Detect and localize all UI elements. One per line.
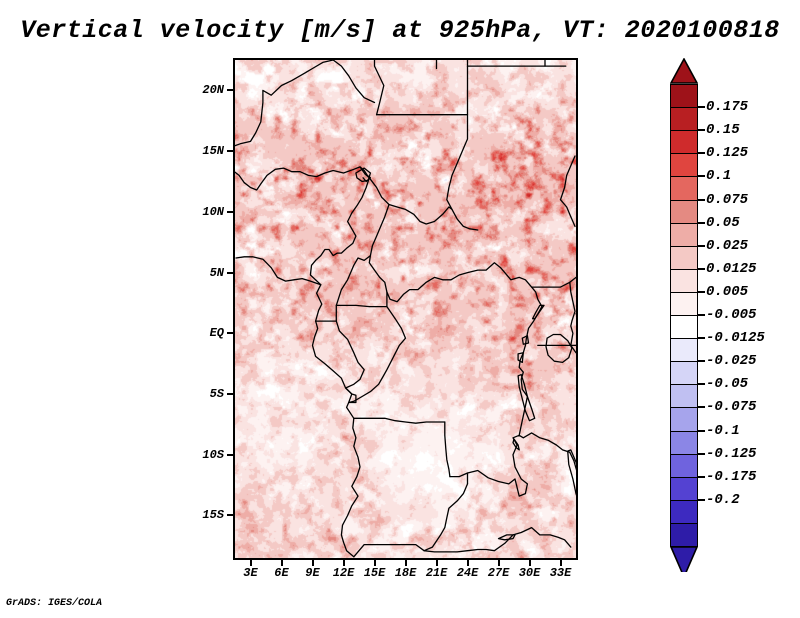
colorbar-label: -0.2 [706, 492, 740, 508]
colorbar-swatch [670, 107, 698, 132]
colorbar-swatch [670, 292, 698, 317]
colorbar-swatch [670, 153, 698, 178]
longitude-tick-label-24e: 24E [457, 566, 479, 580]
map-border-line [354, 418, 445, 423]
colorbar-swatch [670, 269, 698, 294]
longitude-tick-mark [436, 560, 438, 566]
map-border-line [333, 60, 374, 103]
longitude-tick-label-15e: 15E [364, 566, 386, 580]
latitude-tick-mark [227, 393, 233, 395]
map-border-line [336, 292, 387, 307]
latitude-tick-mark [227, 150, 233, 152]
colorbar-swatch [670, 384, 698, 409]
map-border-line [369, 205, 500, 302]
colorbar-tick-mark [698, 360, 705, 362]
grads-plot-page: Vertical velocity [m/s] at 925hPa, VT: 2… [0, 0, 800, 618]
colorbar-tick-mark [698, 314, 705, 316]
map-border-line [501, 268, 542, 436]
colorbar-label: 0.15 [706, 122, 740, 138]
colorbar-tick-mark [698, 245, 705, 247]
map-border-line [561, 156, 576, 200]
colorbar-cap-top [670, 58, 698, 84]
longitude-tick-mark [250, 560, 252, 566]
colorbar-tick-mark [698, 222, 705, 224]
colorbar-tick-mark [698, 129, 705, 131]
page-title: Vertical velocity [m/s] at 925hPa, VT: 2… [0, 16, 800, 45]
colorbar-swatch [670, 361, 698, 386]
colorbar-label: 0.005 [706, 284, 748, 300]
colorbar-label: 0.125 [706, 145, 748, 161]
colorbar-cap-bottom [670, 546, 698, 572]
longitude-tick-mark [343, 560, 345, 566]
colorbar-tick-mark [698, 199, 705, 201]
map-border-line [316, 256, 371, 322]
map-border-line [424, 528, 571, 552]
colorbar-swatch [670, 200, 698, 225]
colorbar-label: -0.125 [706, 446, 756, 462]
colorbar-tick-mark [698, 406, 705, 408]
latitude-tick-label-eq: EQ [178, 326, 224, 340]
longitude-tick-mark [374, 560, 376, 566]
colorbar-swatch [670, 523, 698, 548]
colorbar-label: -0.0125 [706, 330, 765, 346]
map-border-line [447, 60, 478, 230]
colorbar-tick-mark [698, 337, 705, 339]
map-border-line [354, 545, 424, 557]
longitude-tick-label-30e: 30E [519, 566, 541, 580]
map-border-line [468, 433, 570, 496]
colorbar-tick-mark [698, 106, 705, 108]
colorbar-swatch [670, 454, 698, 479]
colorbar-swatch [670, 176, 698, 201]
latitude-tick-label-15n: 15N [178, 144, 224, 158]
longitude-tick-label-3e: 3E [243, 566, 257, 580]
colorbar-tick-mark [698, 383, 705, 385]
colorbar-label: 0.05 [706, 215, 740, 231]
colorbar-label: 0.0125 [706, 261, 756, 277]
map-border-line [561, 200, 576, 227]
longitude-tick-label-9e: 9E [305, 566, 319, 580]
map-border-line [375, 60, 384, 115]
colorbar-tick-mark [698, 291, 705, 293]
map-border-line [349, 307, 406, 403]
colorbar-label: 0.075 [706, 192, 748, 208]
colorbar-label: -0.075 [706, 399, 756, 415]
longitude-tick-mark [281, 560, 283, 566]
map-border-line [424, 484, 467, 551]
longitude-tick-label-27e: 27E [488, 566, 510, 580]
colorbar-label: -0.1 [706, 423, 740, 439]
colorbar-label: -0.025 [706, 353, 756, 369]
longitude-tick-mark [467, 560, 469, 566]
longitude-tick-mark [312, 560, 314, 566]
colorbar-tick-mark [698, 476, 705, 478]
longitude-tick-label-33e: 33E [550, 566, 572, 580]
colorbar-tick-mark [698, 268, 705, 270]
latitude-tick-mark [227, 332, 233, 334]
colorbar-label: 0.025 [706, 238, 748, 254]
colorbar-swatch [670, 338, 698, 363]
map-border-line [518, 375, 535, 421]
map-border-line [313, 285, 361, 557]
colorbar-tick-mark [698, 175, 705, 177]
colorbar-swatch [670, 431, 698, 456]
latitude-tick-label-5s: 5S [178, 387, 224, 401]
longitude-tick-label-6e: 6E [274, 566, 288, 580]
map-border-line [570, 282, 576, 352]
map-border-line [450, 473, 468, 484]
colorbar-swatch [670, 315, 698, 340]
colorbar-swatch [670, 407, 698, 432]
colorbar-swatch [670, 130, 698, 155]
latitude-tick-label-5n: 5N [178, 266, 224, 280]
map-border-line [546, 335, 572, 363]
colorbar-swatch [670, 84, 698, 109]
colorbar-label: -0.175 [706, 469, 756, 485]
map-plot-area [233, 58, 578, 560]
colorbar-tick-mark [698, 152, 705, 154]
latitude-tick-label-10s: 10S [178, 448, 224, 462]
map-border-line [369, 178, 452, 224]
colorbar-swatch [670, 223, 698, 248]
colorbar-label: 0.1 [706, 168, 731, 184]
colorbar-swatch [670, 246, 698, 271]
country-borders-overlay [235, 60, 576, 558]
colorbar-tick-mark [698, 453, 705, 455]
longitude-tick-label-21e: 21E [426, 566, 448, 580]
longitude-tick-mark [405, 560, 407, 566]
map-border-line [445, 422, 450, 477]
latitude-tick-mark [227, 514, 233, 516]
colorbar-label: -0.05 [706, 376, 748, 392]
longitude-tick-mark [560, 560, 562, 566]
colorbar-swatch [670, 500, 698, 525]
map-border-line [235, 60, 333, 183]
latitude-tick-mark [227, 89, 233, 91]
map-border-line [236, 257, 321, 285]
longitude-tick-mark [498, 560, 500, 566]
latitude-tick-mark [227, 211, 233, 213]
map-border-line [310, 178, 369, 285]
colorbar-label: -0.005 [706, 307, 756, 323]
colorbar-tick-mark [698, 499, 705, 501]
map-border-line [244, 167, 369, 190]
colorbar-label: 0.175 [706, 99, 748, 115]
grads-attribution: GrADS: IGES/COLA [6, 598, 102, 609]
colorbar-swatch [670, 477, 698, 502]
latitude-tick-mark [227, 272, 233, 274]
colorbar-tick-mark [698, 430, 705, 432]
latitude-tick-label-10n: 10N [178, 205, 224, 219]
latitude-tick-mark [227, 454, 233, 456]
longitude-tick-label-12e: 12E [333, 566, 355, 580]
longitude-tick-label-18e: 18E [395, 566, 417, 580]
latitude-tick-label-15s: 15S [178, 508, 224, 522]
longitude-tick-mark [529, 560, 531, 566]
latitude-tick-label-20n: 20N [178, 83, 224, 97]
